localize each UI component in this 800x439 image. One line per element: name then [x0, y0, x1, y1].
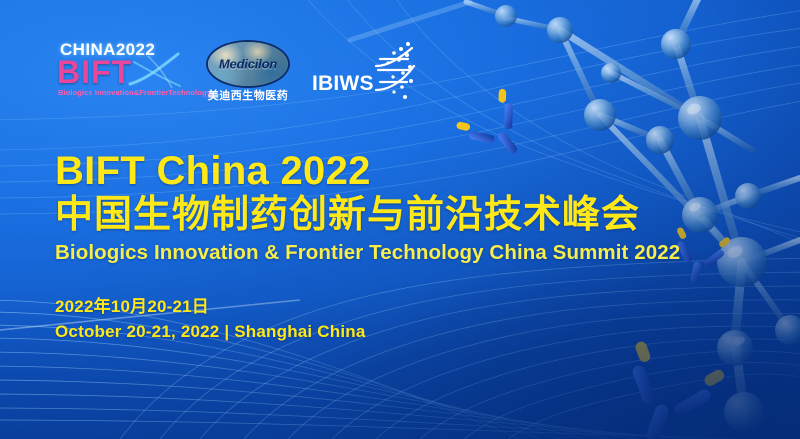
medicilon-chinese-name: 美迪西生物医药: [208, 91, 289, 102]
logo-row: CHINA2022 BIFT Biologics Innovation&Fron…: [52, 40, 416, 106]
logo-medicilon[interactable]: Medicilon 美迪西生物医药: [202, 40, 294, 104]
title-english: BIFT China 2022: [55, 150, 755, 192]
title-chinese: 中国生物制药创新与前沿技术峰会: [55, 194, 755, 237]
medicilon-wordmark: Medicilon: [208, 57, 288, 72]
conference-banner: CHINA2022 BIFT Biologics Innovation&Fron…: [0, 0, 800, 439]
subtitle-english: Biologics Innovation & Frontier Technolo…: [55, 241, 755, 265]
ibiws-wordmark: IBIWS: [312, 73, 374, 94]
logo-ibiws[interactable]: IBIWS: [312, 40, 416, 104]
bift-logo-tagline: Biologics Innovation&FrontierTechnology: [58, 89, 211, 97]
bift-logo-wordmark: BIFT: [57, 56, 132, 88]
dna-helix-icon: [374, 40, 418, 102]
logo-bift[interactable]: CHINA2022 BIFT Biologics Innovation&Fron…: [52, 40, 184, 104]
oval-photo-badge-icon: Medicilon: [206, 40, 290, 88]
date-english-location: October 20-21, 2022 | Shanghai China: [55, 320, 366, 345]
headline-block: BIFT China 2022 中国生物制药创新与前沿技术峰会 Biologic…: [55, 150, 755, 265]
date-block: 2022年10月20-21日 October 20-21, 2022 | Sha…: [55, 295, 366, 344]
date-chinese: 2022年10月20-21日: [55, 295, 366, 320]
